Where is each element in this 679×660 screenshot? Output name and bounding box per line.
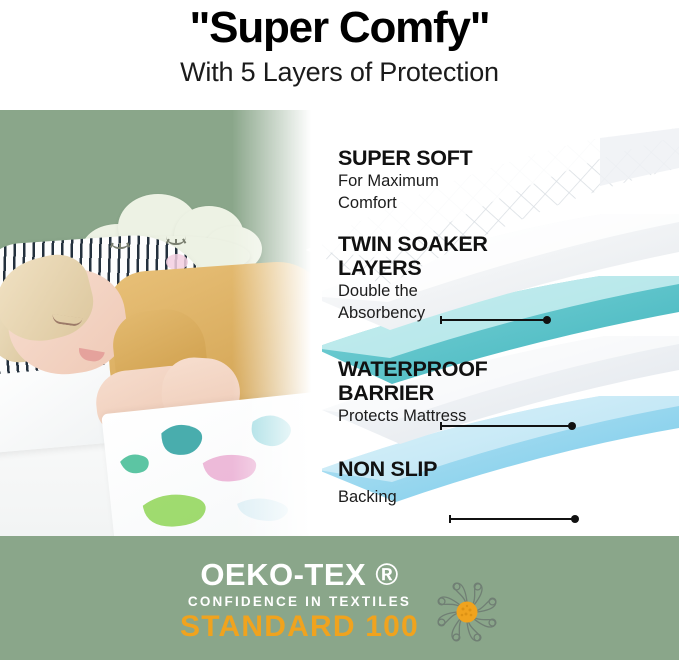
feature-desc-line1: Protects Mattress <box>338 407 466 425</box>
oeko-tex-badge: OEKO-TEX ® CONFIDENCE IN TEXTILES STANDA… <box>180 559 499 642</box>
lifestyle-photo <box>0 110 322 536</box>
feature-desc-line1: Backing <box>338 488 397 506</box>
feature-non-slip: NON SLIP Backing <box>338 457 538 509</box>
feature-super-soft: SUPER SOFT For Maximum Comfort <box>338 146 538 215</box>
feature-desc-line2: Comfort <box>338 194 397 212</box>
oeko-tex-medallion-icon <box>435 580 499 644</box>
feature-desc-line2: Absorbency <box>338 304 425 322</box>
feature-desc-line1: Double the <box>338 282 418 300</box>
standard-100-label: STANDARD 100 <box>180 612 419 642</box>
header: "Super Comfy" With 5 Layers of Protectio… <box>0 0 679 110</box>
page-title: "Super Comfy" <box>0 4 679 52</box>
page-subtitle: With 5 Layers of Protection <box>0 58 679 88</box>
feature-waterproof-barrier: WATERPROOF BARRIER Protects Mattress <box>338 357 538 428</box>
feature-list: SUPER SOFT For Maximum Comfort TWIN SOAK… <box>338 110 538 536</box>
main-panel: SUPER SOFT For Maximum Comfort TWIN SOAK… <box>0 110 679 536</box>
feature-title: WATERPROOF <box>338 357 538 381</box>
oeko-tex-label: OEKO-TEX ® <box>180 559 419 590</box>
feature-title: NON SLIP <box>338 457 538 481</box>
feature-title-line2: BARRIER <box>338 381 538 405</box>
leader-line-super-soft <box>441 319 548 321</box>
feature-title: SUPER SOFT <box>338 146 538 170</box>
feature-desc-line1: For Maximum <box>338 172 439 190</box>
confidence-in-textiles-label: CONFIDENCE IN TEXTILES <box>180 594 419 609</box>
feature-twin-soaker: TWIN SOAKER LAYERS Double the Absorbency <box>338 232 538 325</box>
oeko-tex-footer: OEKO-TEX ® CONFIDENCE IN TEXTILES STANDA… <box>0 536 679 660</box>
feature-title: TWIN SOAKER <box>338 232 538 256</box>
leader-line-waterproof <box>450 518 576 520</box>
feature-title-line2: LAYERS <box>338 256 538 280</box>
leader-line-twin-soaker <box>441 425 573 427</box>
photo-fade-overlay <box>232 110 322 536</box>
